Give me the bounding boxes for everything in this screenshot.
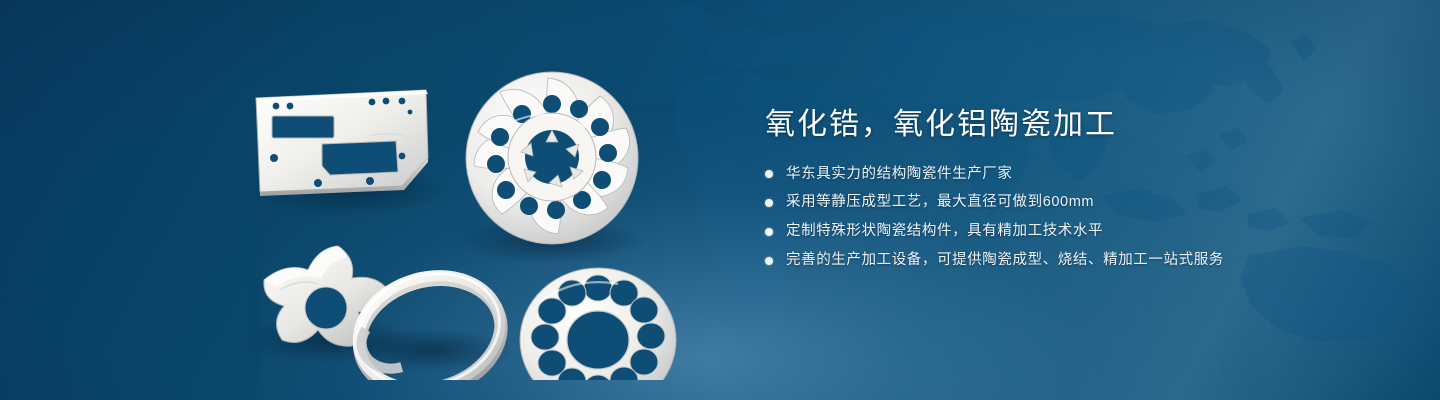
list-item: 采用等静压成型工艺，最大直径可做到600mm	[765, 192, 1385, 214]
bullet-dot-icon	[765, 257, 773, 265]
ceramic-perforated-disc-shape	[520, 268, 676, 380]
bullet-dot-icon	[765, 170, 773, 178]
bullet-dot-icon	[765, 228, 773, 236]
banner-text-block: 氧化锆，氧化铝陶瓷加工 华东具实力的结构陶瓷件生产厂家 采用等静压成型工艺，最大…	[765, 106, 1385, 279]
banner-headline: 氧化锆，氧化铝陶瓷加工	[765, 106, 1385, 144]
ceramic-products-image	[230, 40, 710, 380]
bullet-dot-icon	[765, 199, 773, 207]
feature-list: 华东具实力的结构陶瓷件生产厂家 采用等静压成型工艺，最大直径可做到600mm 定…	[765, 164, 1385, 272]
feature-text: 华东具实力的结构陶瓷件生产厂家	[786, 164, 1013, 186]
promo-banner: 氧化锆，氧化铝陶瓷加工 华东具实力的结构陶瓷件生产厂家 采用等静压成型工艺，最大…	[0, 0, 1440, 400]
feature-text: 采用等静压成型工艺，最大直径可做到600mm	[786, 192, 1094, 214]
ceramic-mounting-plate-shape	[256, 90, 428, 196]
list-item: 华东具实力的结构陶瓷件生产厂家	[765, 164, 1385, 186]
list-item: 完善的生产加工设备，可提供陶瓷成型、烧结、精加工一站式服务	[765, 250, 1385, 272]
list-item: 定制特殊形状陶瓷结构件，具有精加工技术水平	[765, 221, 1385, 243]
ceramic-impeller-disc-shape	[466, 72, 638, 244]
feature-text: 定制特殊形状陶瓷结构件，具有精加工技术水平	[786, 221, 1103, 243]
feature-text: 完善的生产加工设备，可提供陶瓷成型、烧结、精加工一站式服务	[786, 250, 1224, 272]
